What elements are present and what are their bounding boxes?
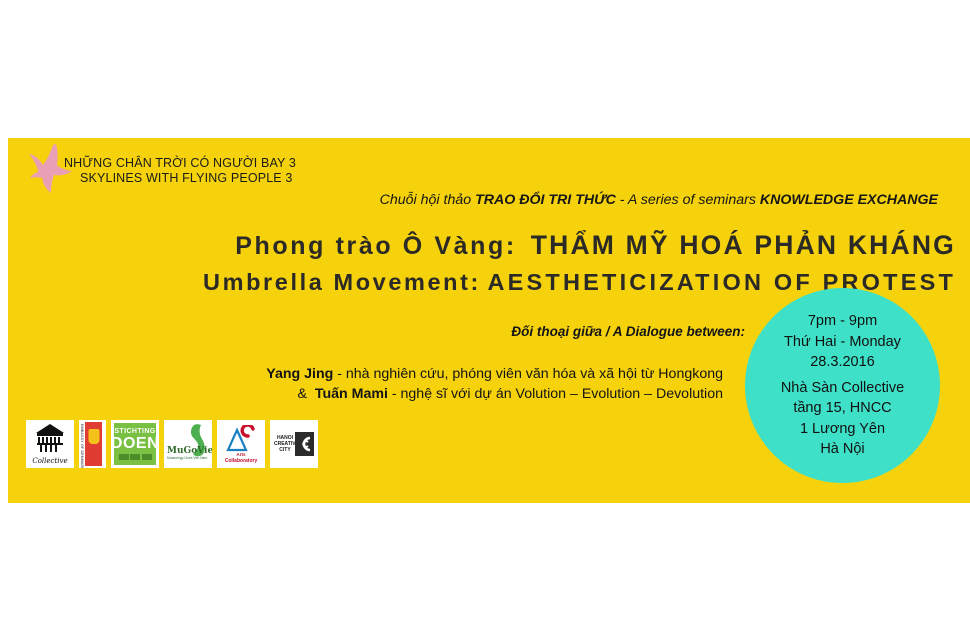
doen-logo-icon: STICHTING DOEN xyxy=(114,423,156,465)
sponsor-logo-hanoi-creative-city: HANOI CREATIVE CITY xyxy=(270,420,318,468)
sponsor-line2: Collaboratory xyxy=(217,458,265,464)
event-floor: tầng 15, HNCC xyxy=(793,398,891,419)
series-prefix-en: A series of seminars xyxy=(628,192,760,208)
sponsor-line2: DOEN xyxy=(111,435,159,452)
sponsor-caption: EMBASSY OF DENMARK xyxy=(80,424,84,468)
event-venue: Nhà Sàn Collective xyxy=(781,378,904,399)
series-separator: - xyxy=(616,192,628,208)
sponsor-caption: Collective xyxy=(26,457,74,465)
title-vietnamese: Phong trào Ô Vàng: THẨM MỸ HOÁ PHẢN KHÁN… xyxy=(8,230,956,261)
sponsor-line1: STICHTING xyxy=(114,428,155,435)
sponsor-line3: CITY xyxy=(274,447,296,453)
series-title-en: KNOWLEDGE EXCHANGE xyxy=(760,192,938,208)
spiral-mark-icon xyxy=(295,432,314,456)
title-vi-strong: THẨM MỸ HOÁ PHẢN KHÁNG xyxy=(531,230,956,260)
speaker-name: Yang Jing xyxy=(266,366,333,382)
title-en-strong: AESTHETICIZATION OF PROTEST xyxy=(488,269,957,295)
sponsor-line1: MuGoVie xyxy=(167,446,212,456)
sponsor-logo-embassy-of-denmark: EMBASSY OF DENMARK xyxy=(79,420,106,468)
organisation-lines: NHỮNG CHÂN TRỜI CÓ NGƯỜI BAY 3 SKYLINES … xyxy=(64,156,296,186)
org-line-en: SKYLINES WITH FLYING PEOPLE 3 xyxy=(64,171,296,186)
event-poster: NHỮNG CHÂN TRỜI CÓ NGƯỜI BAY 3 SKYLINES … xyxy=(8,138,970,503)
event-city: Hà Nội xyxy=(820,439,864,460)
event-date: 28.3.2016 xyxy=(810,352,875,373)
stilt-house-icon xyxy=(30,422,70,454)
title-vi-light: Phong trào Ô Vàng: xyxy=(235,232,517,260)
sponsor-line2: Museology Goes Viet Nam xyxy=(167,456,207,460)
sponsor-logo-stichting-doen: STICHTING DOEN xyxy=(111,420,159,468)
sponsor-logo-nha-san-collective: Collective xyxy=(26,420,74,468)
denmark-crest-icon xyxy=(85,422,102,466)
speaker-row: Yang Jing - nhà nghiên cứu, phóng viên v… xyxy=(8,366,723,382)
doen-bars xyxy=(119,454,152,460)
event-street: 1 Lương Yên xyxy=(800,419,885,440)
speaker-description: - nhà nghiên cứu, phóng viên văn hóa và … xyxy=(333,366,723,382)
dialogue-intro: Đối thoại giữa / A Dialogue between: xyxy=(8,324,745,339)
speaker-row: & Tuấn Mami - nghệ sĩ với dự án Volution… xyxy=(8,386,723,402)
series-prefix-vi: Chuỗi hội thảo xyxy=(380,192,475,208)
series-line: Chuỗi hội thảo TRAO ĐỔI TRI THỨC - A ser… xyxy=(8,192,938,208)
org-line-vi: NHỮNG CHÂN TRỜI CÓ NGƯỜI BAY 3 xyxy=(64,156,296,171)
speaker-prefix: & xyxy=(298,386,315,402)
sponsor-line1: Arts xyxy=(217,452,265,457)
sponsor-logo-strip: Collective EMBASSY OF DENMARK STICHTING … xyxy=(26,420,318,468)
sponsor-logo-arts-collaboratory: Arts Collaboratory xyxy=(217,420,265,468)
title-en-light: Umbrella Movement: xyxy=(203,269,481,295)
triangle-arc-icon xyxy=(226,425,256,452)
event-time: 7pm - 9pm xyxy=(808,311,877,332)
speaker-description: - nghệ sĩ với dự án Volution – Evolution… xyxy=(388,386,723,402)
hcc-wordmark: HANOI CREATIVE CITY xyxy=(274,435,296,454)
event-details-circle: 7pm - 9pm Thứ Hai - Monday 28.3.2016 Nhà… xyxy=(745,288,940,483)
speaker-name: Tuấn Mami xyxy=(315,386,388,402)
series-title-vi: TRAO ĐỔI TRI THỨC xyxy=(475,192,616,208)
event-day: Thứ Hai - Monday xyxy=(784,332,901,353)
sponsor-logo-mugovie: MuGoVie Museology Goes Viet Nam xyxy=(164,420,212,468)
